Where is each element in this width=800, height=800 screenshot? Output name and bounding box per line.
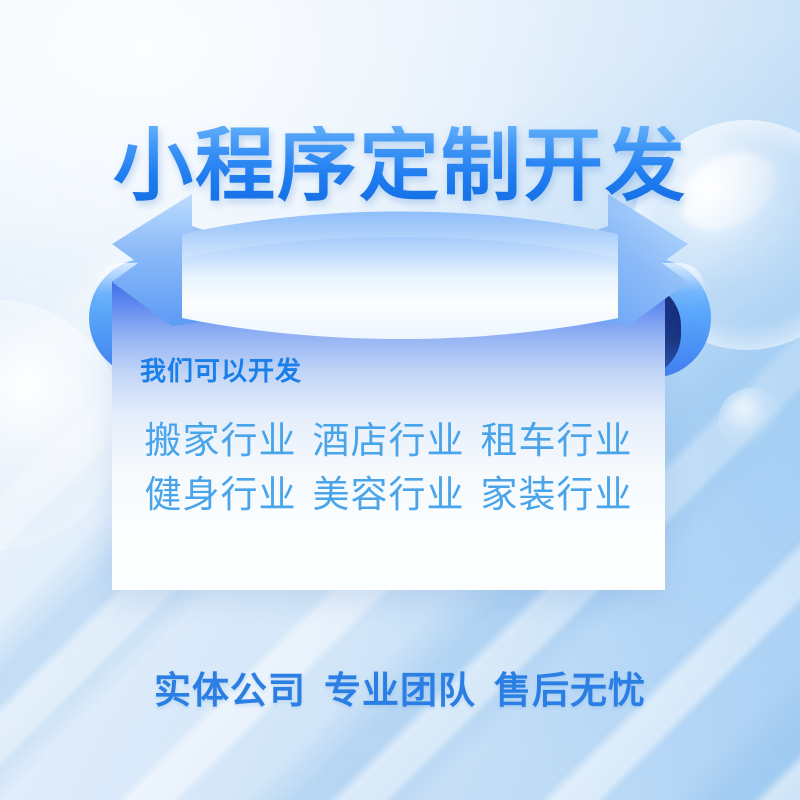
bottom-tagline: 实体公司专业团队售后无忧 [0,660,800,714]
industry-item: 健身行业 [145,473,297,516]
tagline-item: 实体公司 [154,669,306,712]
card-heading: 我们可以开发 [140,351,665,388]
industry-item: 搬家行业 [145,419,297,462]
tagline-item: 售后无忧 [494,669,646,712]
industry-item: 酒店行业 [313,419,465,462]
industry-row: 搬家行业酒店行业租车行业 [112,414,665,468]
poster-title: 小程序定制开发 [113,126,687,206]
industry-item: 美容行业 [313,473,465,516]
industry-row: 健身行业美容行业家装行业 [112,468,665,522]
poster-canvas: 小程序定制开发 [0,0,800,800]
tagline-item: 专业团队 [324,669,476,712]
poster-title-area: 小程序定制开发 [0,72,800,259]
industry-list: 搬家行业酒店行业租车行业 健身行业美容行业家装行业 [112,414,665,521]
decorative-bubble-small-right [718,388,784,454]
industry-item: 家装行业 [481,473,633,516]
industry-item: 租车行业 [481,419,633,462]
